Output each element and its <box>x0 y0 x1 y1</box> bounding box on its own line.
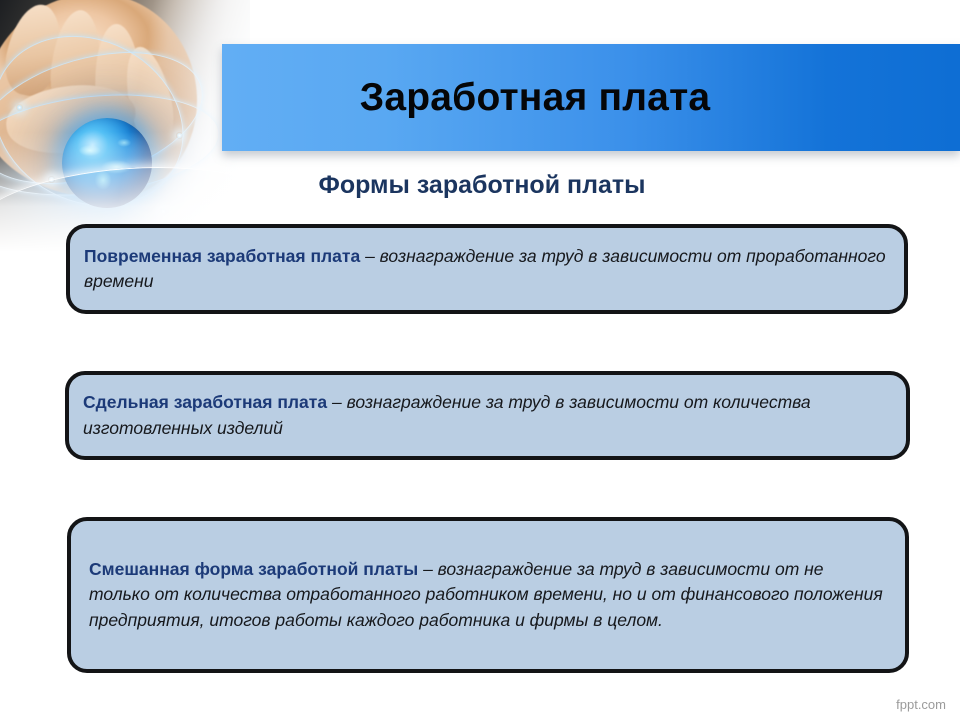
slide-subtitle: Формы заработной платы <box>222 171 742 200</box>
definition-dash: – <box>327 392 346 412</box>
definition-box: Повременная заработная плата – вознаграж… <box>66 224 908 314</box>
definition-text: Повременная заработная плата – вознаграж… <box>70 244 904 295</box>
title-banner: Заработная плата <box>222 44 960 151</box>
definition-term: Сдельная заработная плата <box>83 392 327 412</box>
definition-term: Повременная заработная плата <box>84 246 360 266</box>
watermark: fppt.com <box>896 697 946 712</box>
hand-globe-illustration <box>0 0 250 252</box>
definition-box: Смешанная форма заработной платы – возна… <box>67 517 909 673</box>
definition-text: Смешанная форма заработной платы – возна… <box>71 557 905 633</box>
definition-box: Сдельная заработная плата – вознагражден… <box>65 371 910 460</box>
definition-dash: – <box>418 559 437 579</box>
photo-fade-right <box>0 0 250 252</box>
definition-dash: – <box>360 246 379 266</box>
slide-title: Заработная плата <box>222 76 960 120</box>
definition-text: Сдельная заработная плата – вознагражден… <box>69 390 906 441</box>
definition-term: Смешанная форма заработной платы <box>89 559 418 579</box>
